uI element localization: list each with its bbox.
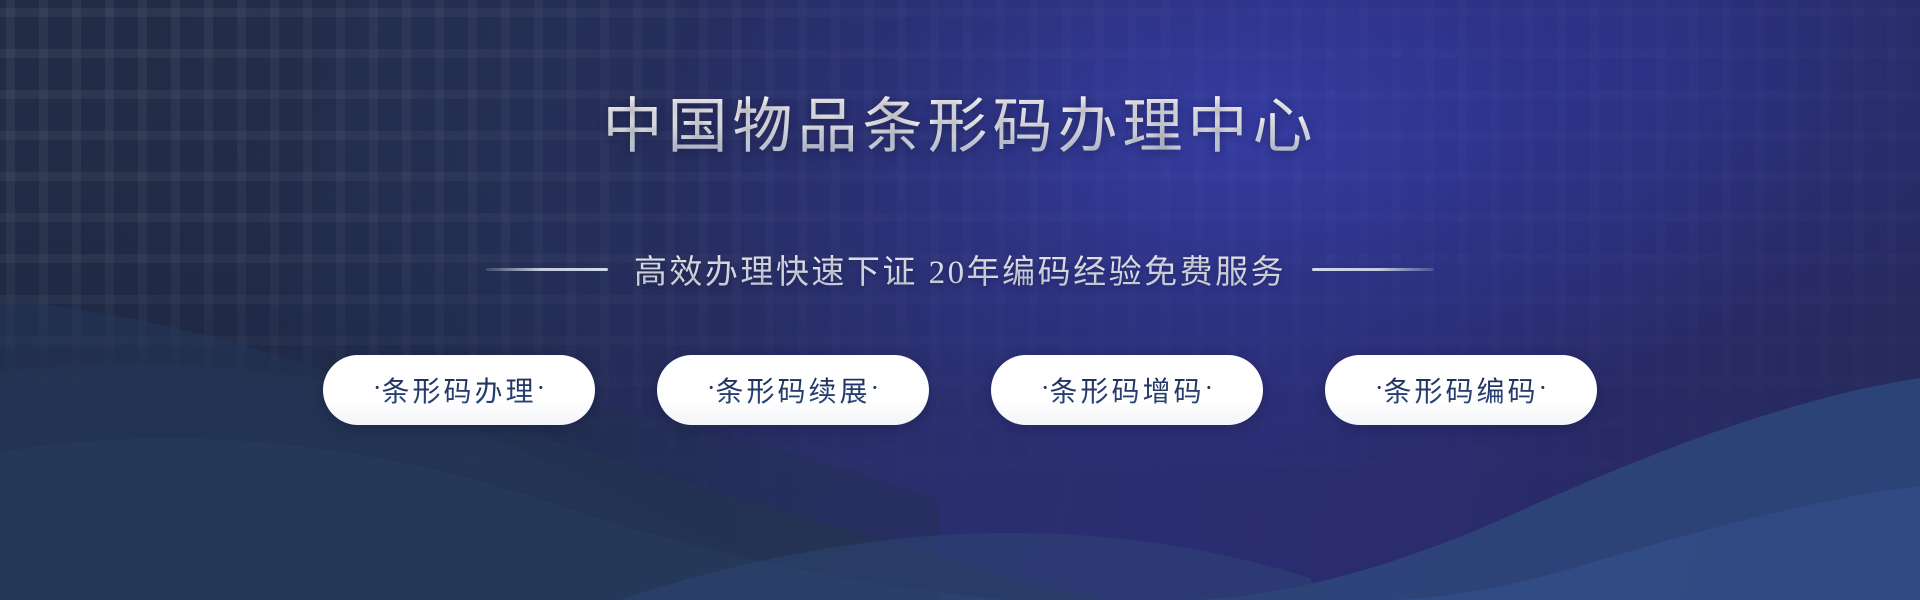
bullet-dot-icon: · bbox=[871, 375, 880, 401]
pill-label: 条形码续展 bbox=[715, 370, 870, 410]
bullet-dot-icon: · bbox=[1375, 375, 1384, 401]
subtitle-text: 高效办理快速下证 20年编码经验免费服务 bbox=[634, 245, 1286, 293]
banner-content: 中国物品条形码办理中心 高效办理快速下证 20年编码经验免费服务 · 条形码办理… bbox=[0, 0, 1920, 600]
pill-label: 条形码编码 bbox=[1383, 370, 1538, 410]
bullet-dot-icon: · bbox=[1539, 375, 1548, 401]
promo-banner: 中国物品条形码办理中心 高效办理快速下证 20年编码经验免费服务 · 条形码办理… bbox=[0, 0, 1920, 600]
subtitle-row: 高效办理快速下证 20年编码经验免费服务 bbox=[486, 245, 1434, 293]
bullet-dot-icon: · bbox=[373, 375, 382, 401]
bullet-dot-icon: · bbox=[537, 375, 546, 401]
decorative-line-left bbox=[486, 268, 608, 271]
decorative-line-right bbox=[1312, 268, 1434, 271]
bullet-dot-icon: · bbox=[707, 375, 716, 401]
pill-barcode-add[interactable]: · 条形码增码 · bbox=[991, 355, 1263, 425]
bullet-dot-icon: · bbox=[1041, 375, 1050, 401]
pill-barcode-renew[interactable]: · 条形码续展 · bbox=[657, 355, 929, 425]
pill-barcode-apply[interactable]: · 条形码办理 · bbox=[323, 355, 595, 425]
pill-barcode-encode[interactable]: · 条形码编码 · bbox=[1325, 355, 1597, 425]
service-pill-group: · 条形码办理 · · 条形码续展 · · 条形码增码 · · 条形码编码 · bbox=[323, 355, 1597, 425]
bullet-dot-icon: · bbox=[1205, 375, 1214, 401]
pill-label: 条形码增码 bbox=[1049, 370, 1204, 410]
page-title: 中国物品条形码办理中心 bbox=[603, 96, 1318, 159]
pill-label: 条形码办理 bbox=[381, 370, 536, 410]
